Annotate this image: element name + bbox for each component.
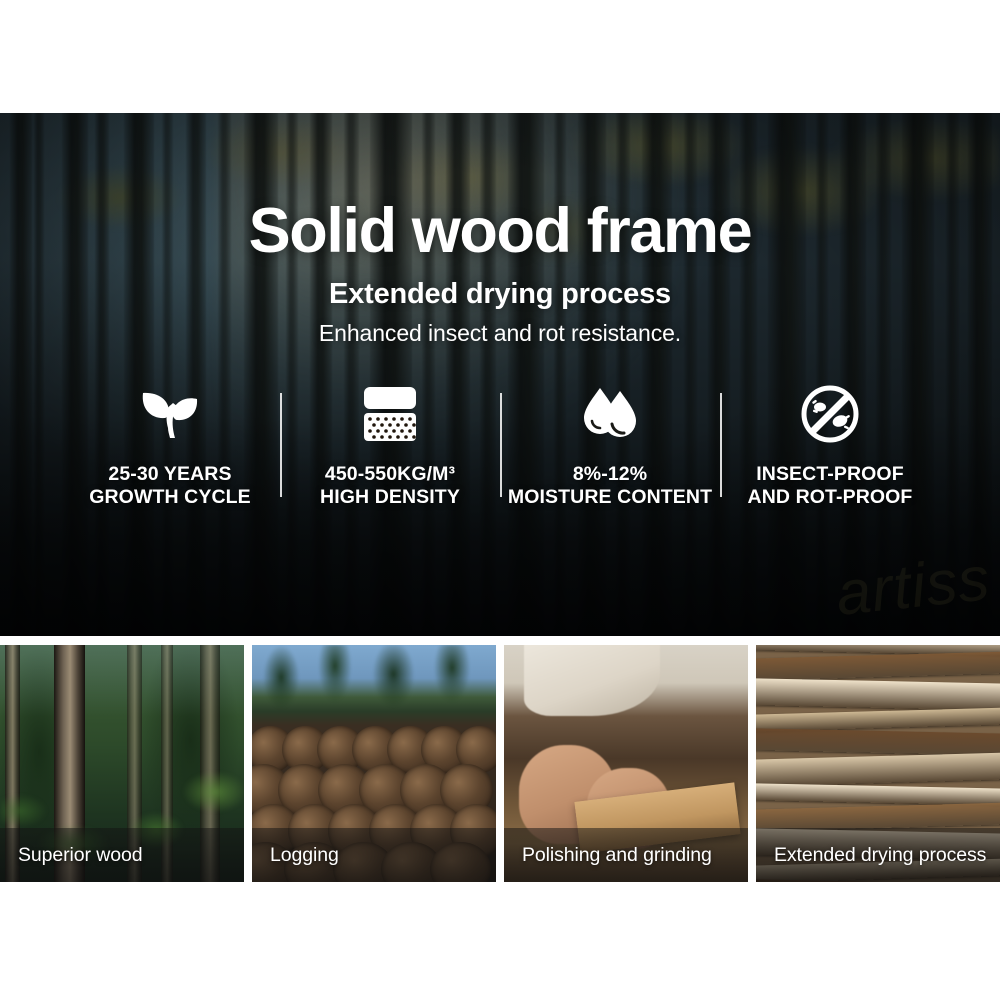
gallery-caption: Polishing and grinding	[504, 844, 712, 867]
gallery-caption-bar: Superior wood	[0, 828, 244, 882]
hero-subtitle: Extended drying process	[329, 278, 671, 311]
gallery-caption: Extended drying process	[756, 844, 986, 867]
feature-item-growth-cycle: 25-30 YEARS GROWTH CYCLE	[60, 383, 280, 511]
gallery-caption: Logging	[252, 844, 339, 867]
product-feature-page: artiss Solid wood frame Extended drying …	[0, 0, 1000, 1000]
gallery-tile-extended-drying[interactable]: Extended drying process	[756, 645, 1000, 882]
feature-list: 25-30 YEARS GROWTH CYCLE	[60, 383, 940, 511]
leaf-sprout-icon	[132, 383, 208, 445]
feature-item-moisture-content: 8%-12% MOISTURE CONTENT	[500, 383, 720, 511]
no-insect-icon	[792, 383, 868, 445]
feature-item-insect-proof: INSECT-PROOF AND ROT-PROOF	[720, 383, 940, 511]
water-drops-icon	[572, 383, 648, 445]
gallery-tile-logging[interactable]: Logging	[252, 645, 496, 882]
gallery-caption-bar: Logging	[252, 828, 496, 882]
hero-description: Enhanced insect and rot resistance.	[319, 320, 681, 347]
mattress-density-icon	[352, 383, 428, 445]
hero-banner: artiss Solid wood frame Extended drying …	[0, 113, 1000, 636]
hero-title: Solid wood frame	[249, 199, 752, 265]
gallery-tile-polishing-grinding[interactable]: Polishing and grinding	[504, 645, 748, 882]
gallery-tile-superior-wood[interactable]: Superior wood	[0, 645, 244, 882]
feature-label: 25-30 YEARS GROWTH CYCLE	[89, 463, 251, 511]
feature-label: 8%-12% MOISTURE CONTENT	[508, 463, 712, 511]
feature-label: INSECT-PROOF AND ROT-PROOF	[748, 463, 913, 511]
gallery-strip: Superior wood Logging Polishing and grin…	[0, 645, 1000, 882]
feature-item-high-density: 450-550KG/M³ HIGH DENSITY	[280, 383, 500, 511]
gallery-caption-bar: Polishing and grinding	[504, 828, 748, 882]
hero-content: Solid wood frame Extended drying process…	[0, 113, 1000, 636]
feature-label: 450-550KG/M³ HIGH DENSITY	[320, 463, 460, 511]
gallery-caption-bar: Extended drying process	[756, 828, 1000, 882]
gallery-caption: Superior wood	[0, 844, 142, 867]
